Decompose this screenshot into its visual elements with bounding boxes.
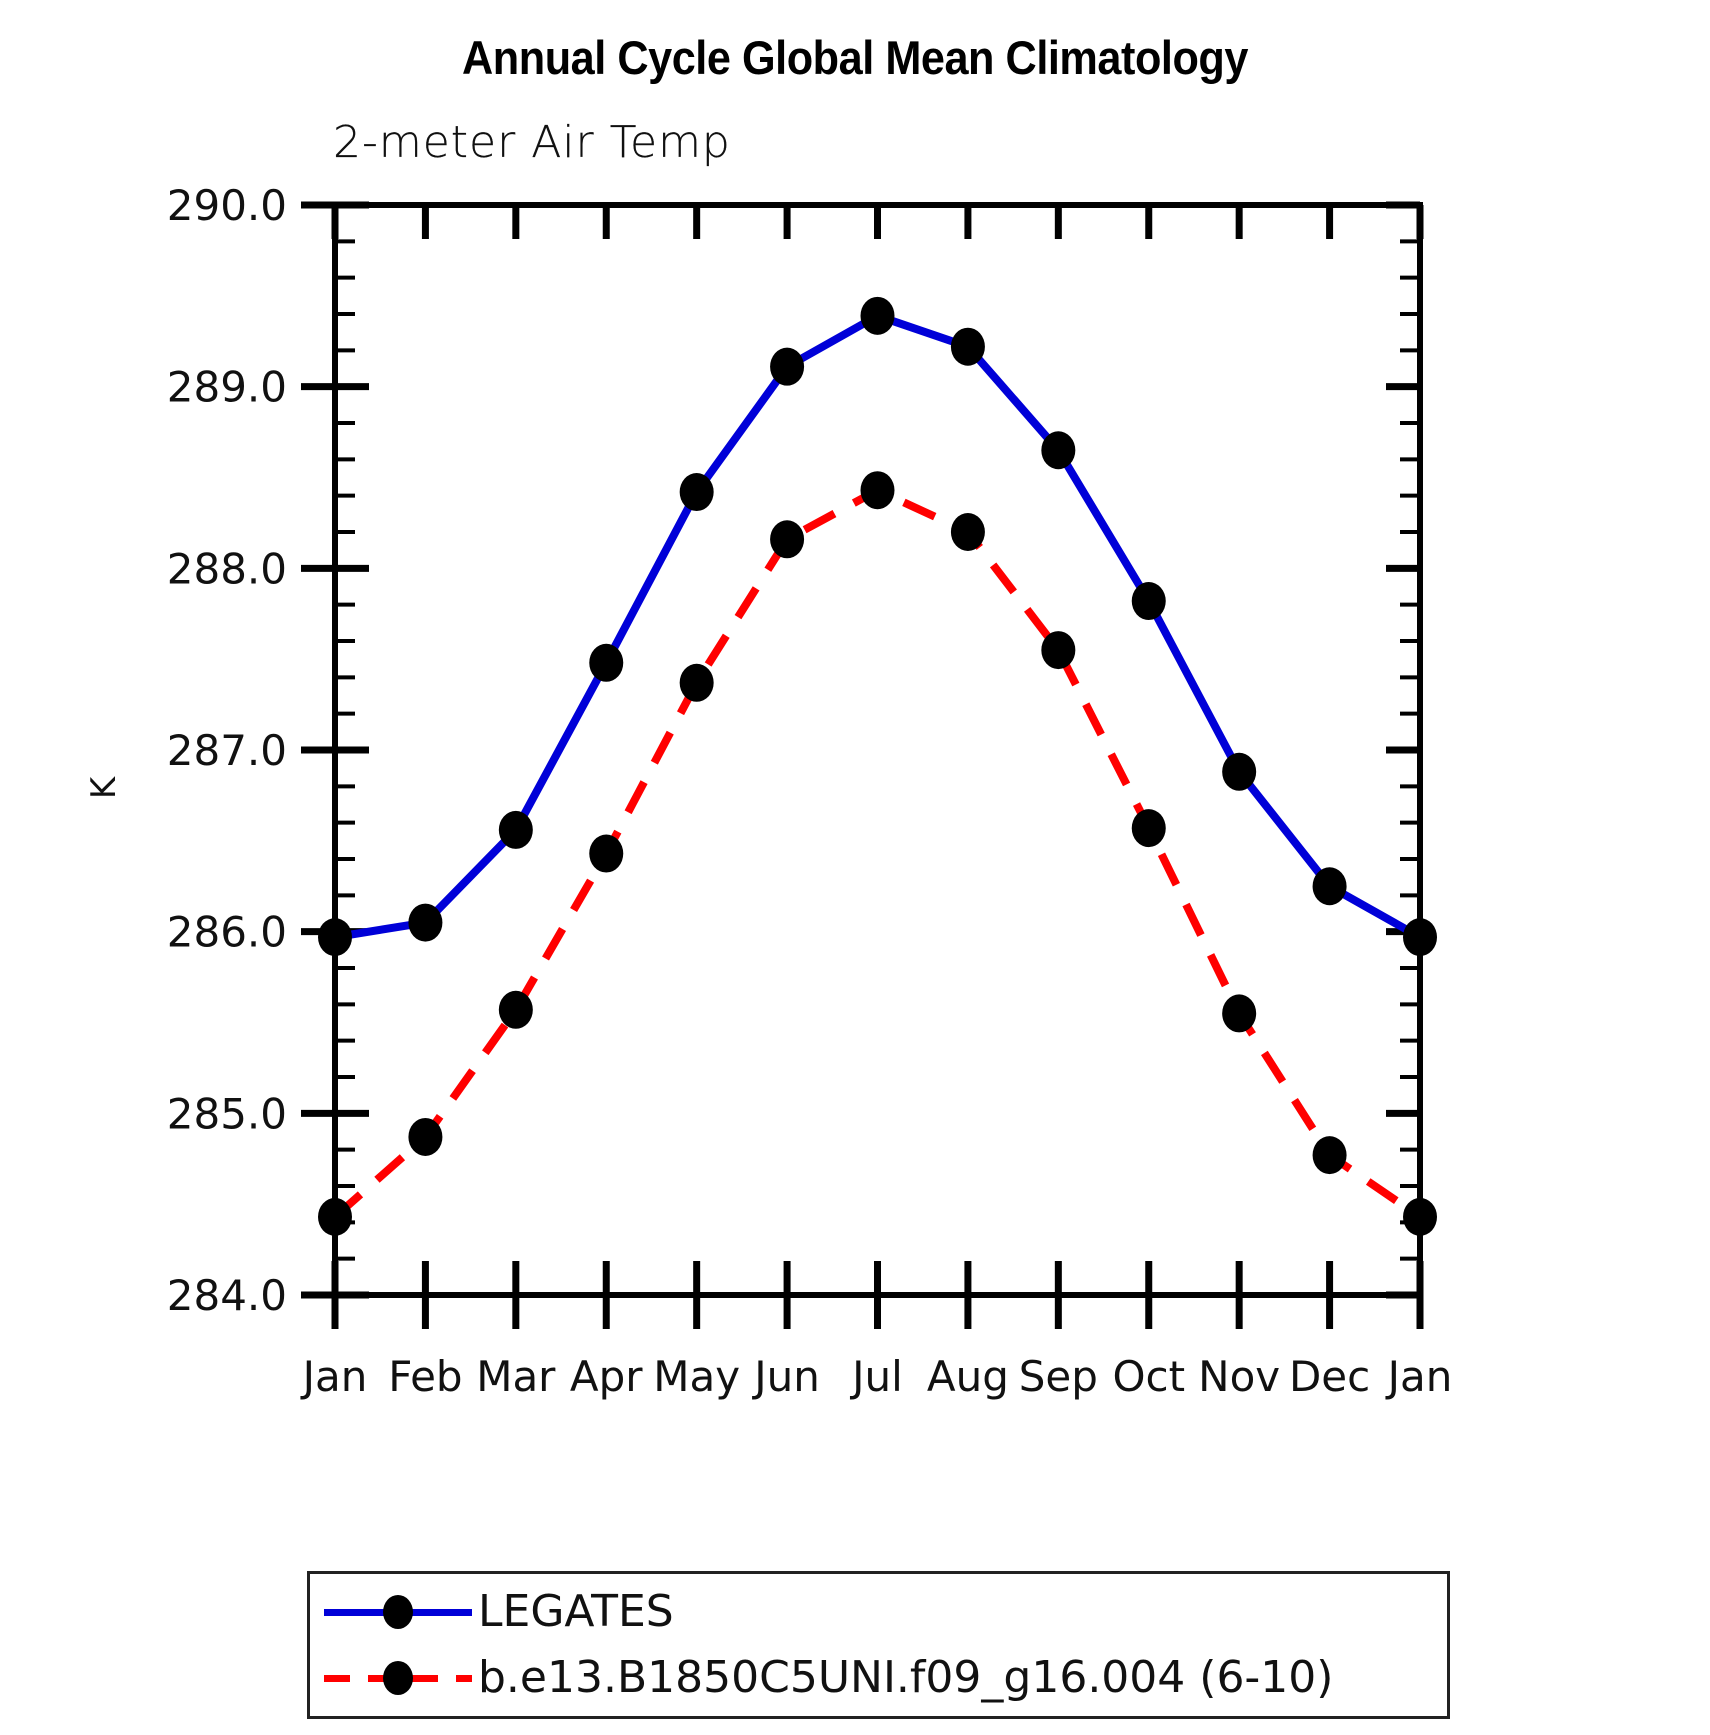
svg-text:285.0: 285.0 [167,1089,287,1138]
svg-text:288.0: 288.0 [167,544,287,593]
svg-text:Jan: Jan [1385,1352,1453,1401]
legend-swatch-dashed-red-line-icon [318,1646,478,1710]
svg-text:Jun: Jun [751,1352,820,1401]
svg-text:286.0: 286.0 [167,908,287,957]
svg-text:Mar: Mar [476,1352,556,1401]
svg-text:Oct: Oct [1112,1352,1185,1401]
svg-text:Apr: Apr [570,1352,643,1401]
legend-label-legates: LEGATES [478,1590,674,1634]
svg-text:Sep: Sep [1019,1352,1098,1401]
svg-text:Aug: Aug [927,1352,1009,1401]
svg-text:Dec: Dec [1289,1352,1370,1401]
svg-text:Jul: Jul [849,1352,903,1401]
x-axis-tick-labels: JanFebMarAprMayJunJulAugSepOctNovDecJan [300,1352,1453,1401]
legend-swatch-solid-blue-line-icon [318,1580,478,1644]
chart-legend: LEGATES b.e13.B1850C5UNI.f09_g16.004 (6-… [307,1571,1450,1719]
svg-text:Feb: Feb [388,1352,462,1401]
svg-text:Jan: Jan [300,1352,368,1401]
svg-text:289.0: 289.0 [167,363,287,412]
legend-entry-model: b.e13.B1850C5UNI.f09_g16.004 (6-10) [310,1646,1447,1710]
climatology-line-chart: 290.0289.0288.0287.0286.0285.0284.0 JanF… [0,0,1710,1735]
svg-text:284.0: 284.0 [167,1271,287,1320]
legend-label-model: b.e13.B1850C5UNI.f09_g16.004 (6-10) [478,1656,1333,1700]
data-series-group [318,297,1437,1236]
svg-text:290.0: 290.0 [167,181,287,230]
svg-text:Nov: Nov [1198,1352,1280,1401]
y-axis-tick-labels: 290.0289.0288.0287.0286.0285.0284.0 [167,181,287,1320]
legend-entry-legates: LEGATES [310,1580,1447,1644]
svg-text:287.0: 287.0 [167,726,287,775]
svg-text:May: May [653,1352,740,1401]
